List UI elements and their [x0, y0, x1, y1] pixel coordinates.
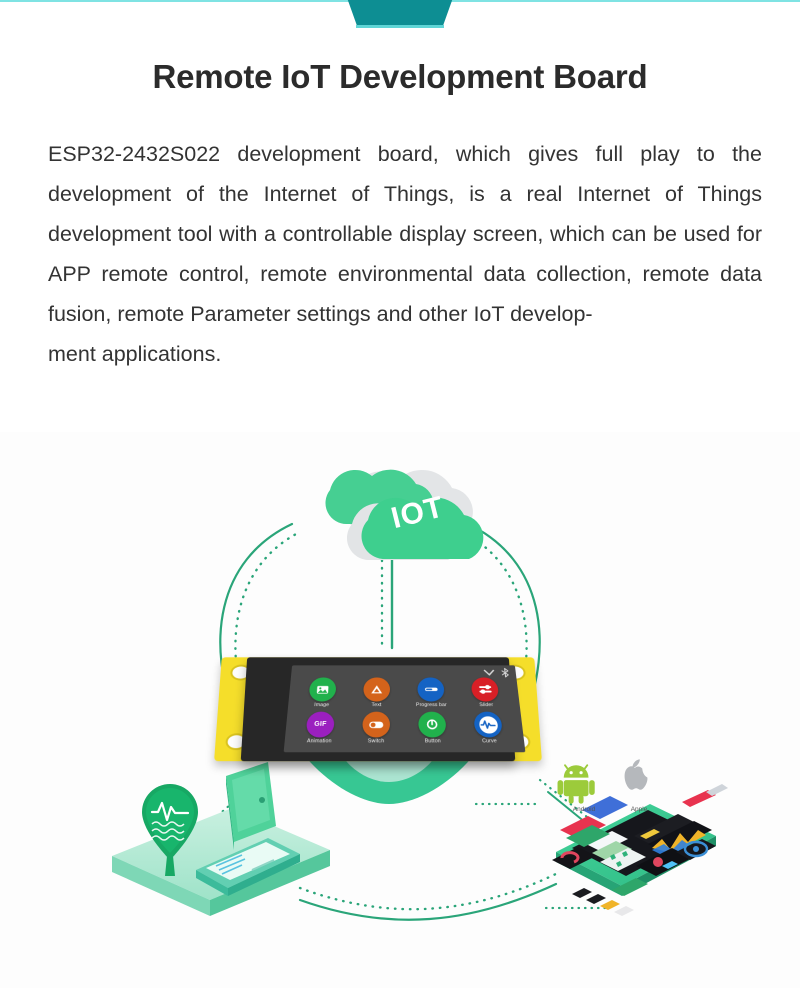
display-bezel: Image Text: [241, 657, 516, 761]
slider-icon[interactable]: [471, 677, 500, 701]
app-launcher-grid: Image Text: [291, 677, 519, 744]
top-accent-tab: [342, 0, 458, 26]
app-label: Animation: [307, 738, 332, 744]
app-tile-text[interactable]: Text: [349, 677, 404, 708]
app-tile-curve[interactable]: Curve: [459, 712, 518, 745]
app-label: Progress bar: [416, 702, 447, 708]
switch-icon[interactable]: [362, 712, 390, 738]
page-title: Remote IoT Development Board: [0, 58, 800, 96]
progress-bar-icon[interactable]: [417, 677, 444, 701]
image-icon[interactable]: [308, 677, 336, 701]
app-tile-slider[interactable]: Slider: [457, 677, 514, 708]
app-label: Switch: [368, 738, 384, 744]
description-line-1: ESP32-2432S022 development board, which …: [48, 142, 623, 166]
android-label: Android: [562, 806, 606, 813]
description-line-7: ment applications.: [48, 334, 762, 374]
app-tile-switch[interactable]: Switch: [348, 712, 405, 745]
app-tile-animation[interactable]: GIF Animation: [291, 712, 349, 745]
apple-icon: [625, 759, 648, 789]
description-line-5: remote environmental data collection, re…: [260, 262, 762, 286]
lcd-screen: Image Text: [284, 665, 526, 752]
android-icon: [558, 765, 595, 803]
app-tile-button[interactable]: Button: [404, 712, 461, 745]
description-line-6: fusion, remote Parameter settings and ot…: [48, 302, 593, 326]
app-label: Slider: [479, 702, 493, 708]
chevron-down-icon: [484, 670, 495, 676]
power-button-icon[interactable]: [418, 712, 446, 738]
apple-label: Apple: [617, 806, 661, 813]
text-icon[interactable]: [363, 677, 390, 701]
app-label: Text: [372, 702, 382, 708]
app-tile-image[interactable]: Image: [294, 677, 350, 708]
curve-icon[interactable]: [473, 712, 503, 738]
app-label: Image: [314, 702, 329, 708]
app-tile-progress-bar[interactable]: Progress bar: [404, 677, 459, 708]
esp32-development-board: Image Text: [218, 654, 538, 762]
top-accent-tab-edge: [356, 25, 444, 28]
app-label: Button: [425, 738, 441, 744]
iot-architecture-illustration: IOT: [0, 432, 800, 988]
gif-icon[interactable]: GIF: [306, 712, 335, 738]
screen-status-bar: [483, 668, 509, 678]
bluetooth-icon: [501, 668, 510, 678]
product-description: ESP32-2432S022 development board, which …: [48, 134, 762, 374]
app-label: Curve: [482, 738, 497, 744]
product-page: Remote IoT Development Board ESP32-2432S…: [0, 0, 800, 988]
